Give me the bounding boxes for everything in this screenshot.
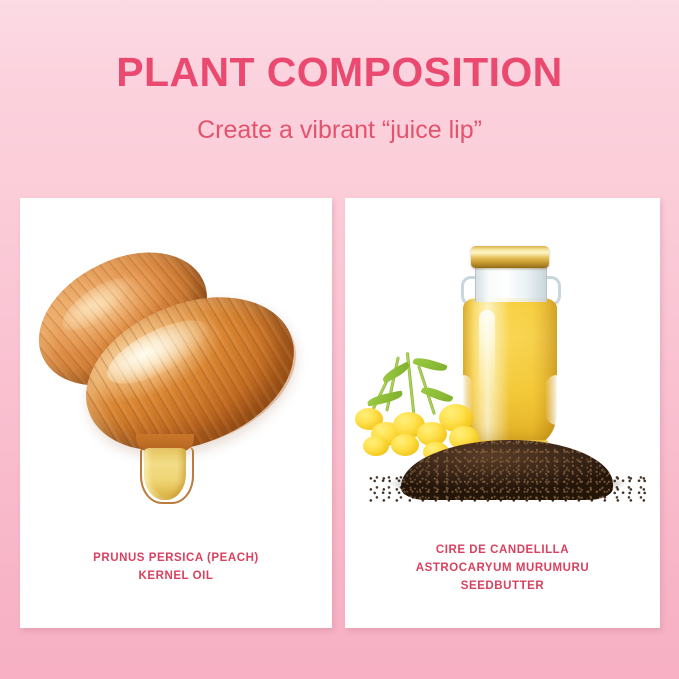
caption-line: CIRE DE CANDELILLA	[345, 542, 660, 560]
page-title: PLANT COMPOSITION	[0, 52, 679, 93]
mustard-seed-pile-icon	[369, 434, 647, 506]
ingredient-caption: CIRE DE CANDELILLA ASTROCARYUM MURUMURU …	[345, 542, 660, 595]
flower-leaf	[366, 390, 403, 406]
page-subtitle: Create a vibrant “juice lip”	[0, 117, 679, 145]
almond-illustration	[20, 198, 332, 538]
ingredient-caption: PRUNUS PERSICA (PEACH) KERNEL OIL	[20, 550, 332, 586]
plant-composition-infographic: PLANT COMPOSITION Create a vibrant “juic…	[0, 0, 679, 679]
ingredient-card-peach-kernel-oil: PRUNUS PERSICA (PEACH) KERNEL OIL	[20, 198, 332, 628]
caption-line: KERNEL OIL	[20, 568, 332, 586]
caption-line: PRUNUS PERSICA (PEACH)	[20, 550, 332, 568]
jar-stage	[345, 198, 660, 538]
oil-jar-illustration	[345, 198, 660, 538]
seed-mound	[401, 440, 613, 500]
caption-line: ASTROCARYUM MURUMURU	[345, 560, 660, 578]
flower-leaf	[412, 355, 447, 374]
almond-stage	[20, 198, 332, 538]
jar-neck-icon	[475, 266, 547, 302]
oil-drip-icon	[144, 448, 186, 500]
caption-line: SEEDBUTTER	[345, 578, 660, 596]
flower-stem	[385, 356, 400, 411]
ingredient-card-candelilla-murumuru: CIRE DE CANDELILLA ASTROCARYUM MURUMURU …	[345, 198, 660, 628]
flower-leaf	[421, 384, 454, 405]
jar-lid-icon	[471, 246, 549, 268]
